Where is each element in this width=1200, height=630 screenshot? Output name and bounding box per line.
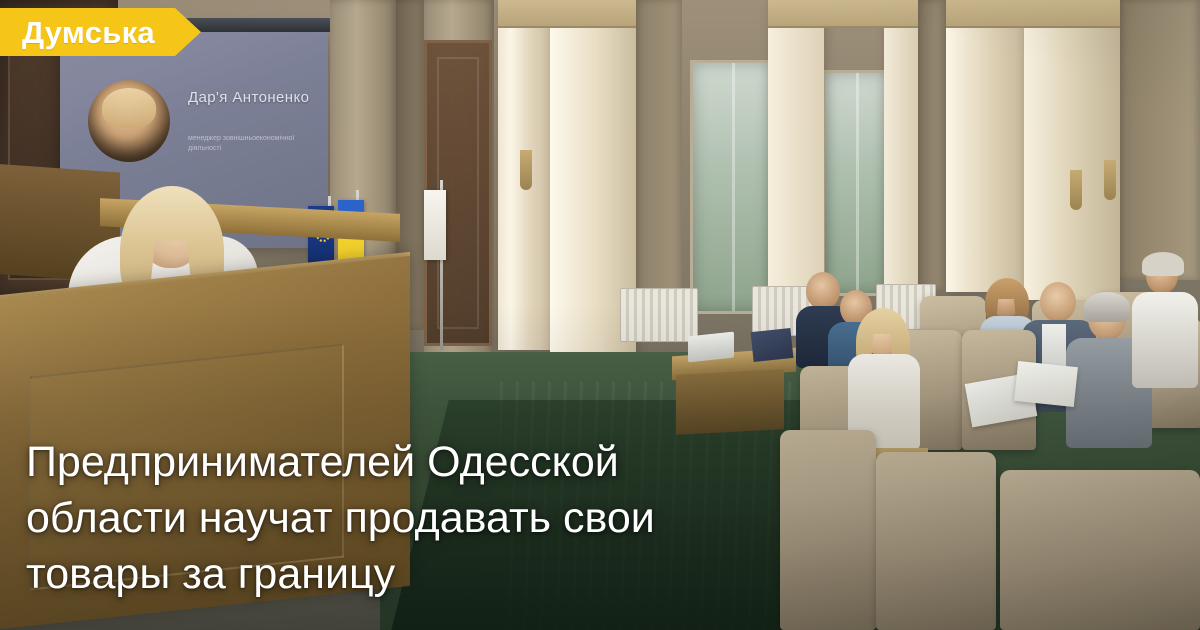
documents-in-hand [1014,361,1078,407]
curtain-tassel-1 [520,150,532,190]
curtain-valance-2 [768,0,918,28]
slide-speaker-name: Дар'я Антоненко [188,88,309,107]
radiator-1 [620,288,698,342]
wall-column-4 [636,0,682,300]
person-torso [1132,292,1198,388]
curtain-4 [884,0,918,300]
person-head [1040,282,1076,322]
curtain-tassel-3 [1104,160,1116,200]
logo-arrow-shape [175,8,201,56]
curtain-valance-3 [946,0,1120,28]
site-logo[interactable]: Думська [0,8,201,56]
hall-window-1 [690,60,774,314]
slide-speaker-subtitle: менеджер зовнішньоекономічної діяльності [188,134,308,154]
folder [751,328,794,362]
window-pane-divider [732,63,735,311]
logo-plate: Думська [0,8,175,56]
audience-chair [1000,470,1200,630]
window-pane-divider [856,73,859,293]
person-hair [1084,292,1130,322]
white-flag [424,190,446,260]
side-table-leg [676,369,784,435]
laptop [688,332,734,363]
hall-window-2 [822,70,890,296]
person-head [806,272,840,310]
curtain-5 [946,0,1024,292]
curtain-valance-1 [498,0,636,28]
wall-column-6 [1120,0,1200,280]
curtain-6 [1024,0,1120,300]
person-hair [1142,252,1184,276]
logo-text: Думська [22,17,155,48]
curtain-tassel-2 [1070,170,1082,210]
article-preview-card: Дар'я Антоненко менеджер зовнішньоеконом… [0,0,1200,630]
audience-chair [876,452,996,630]
article-headline: Предпринимателей Одесской области научат… [26,434,856,602]
slide-portrait-photo [88,80,170,162]
